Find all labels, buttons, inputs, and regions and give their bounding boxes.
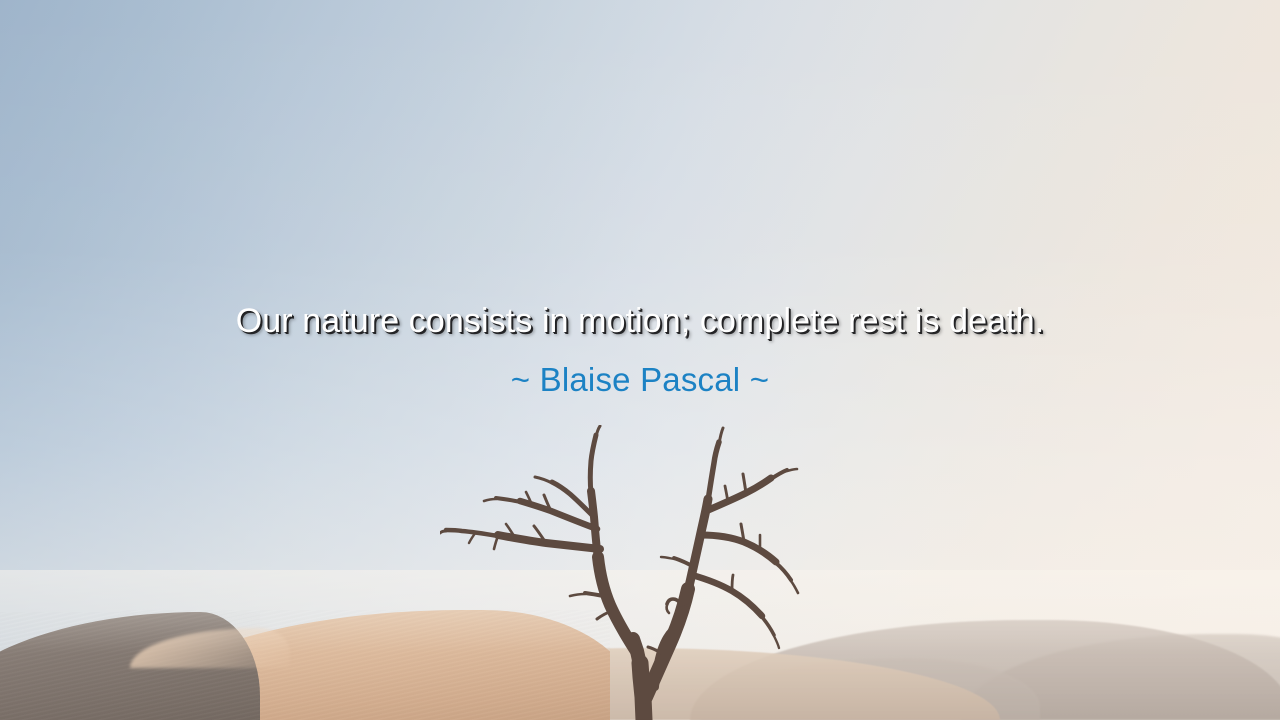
quote-text: Our nature consists in motion; complete …: [0, 300, 1280, 342]
quote-overlay: Our nature consists in motion; complete …: [0, 300, 1280, 400]
quote-author: ~ Blaise Pascal ~: [0, 360, 1280, 400]
quote-image-canvas: Our nature consists in motion; complete …: [0, 0, 1280, 720]
dead-tree: [440, 425, 840, 720]
